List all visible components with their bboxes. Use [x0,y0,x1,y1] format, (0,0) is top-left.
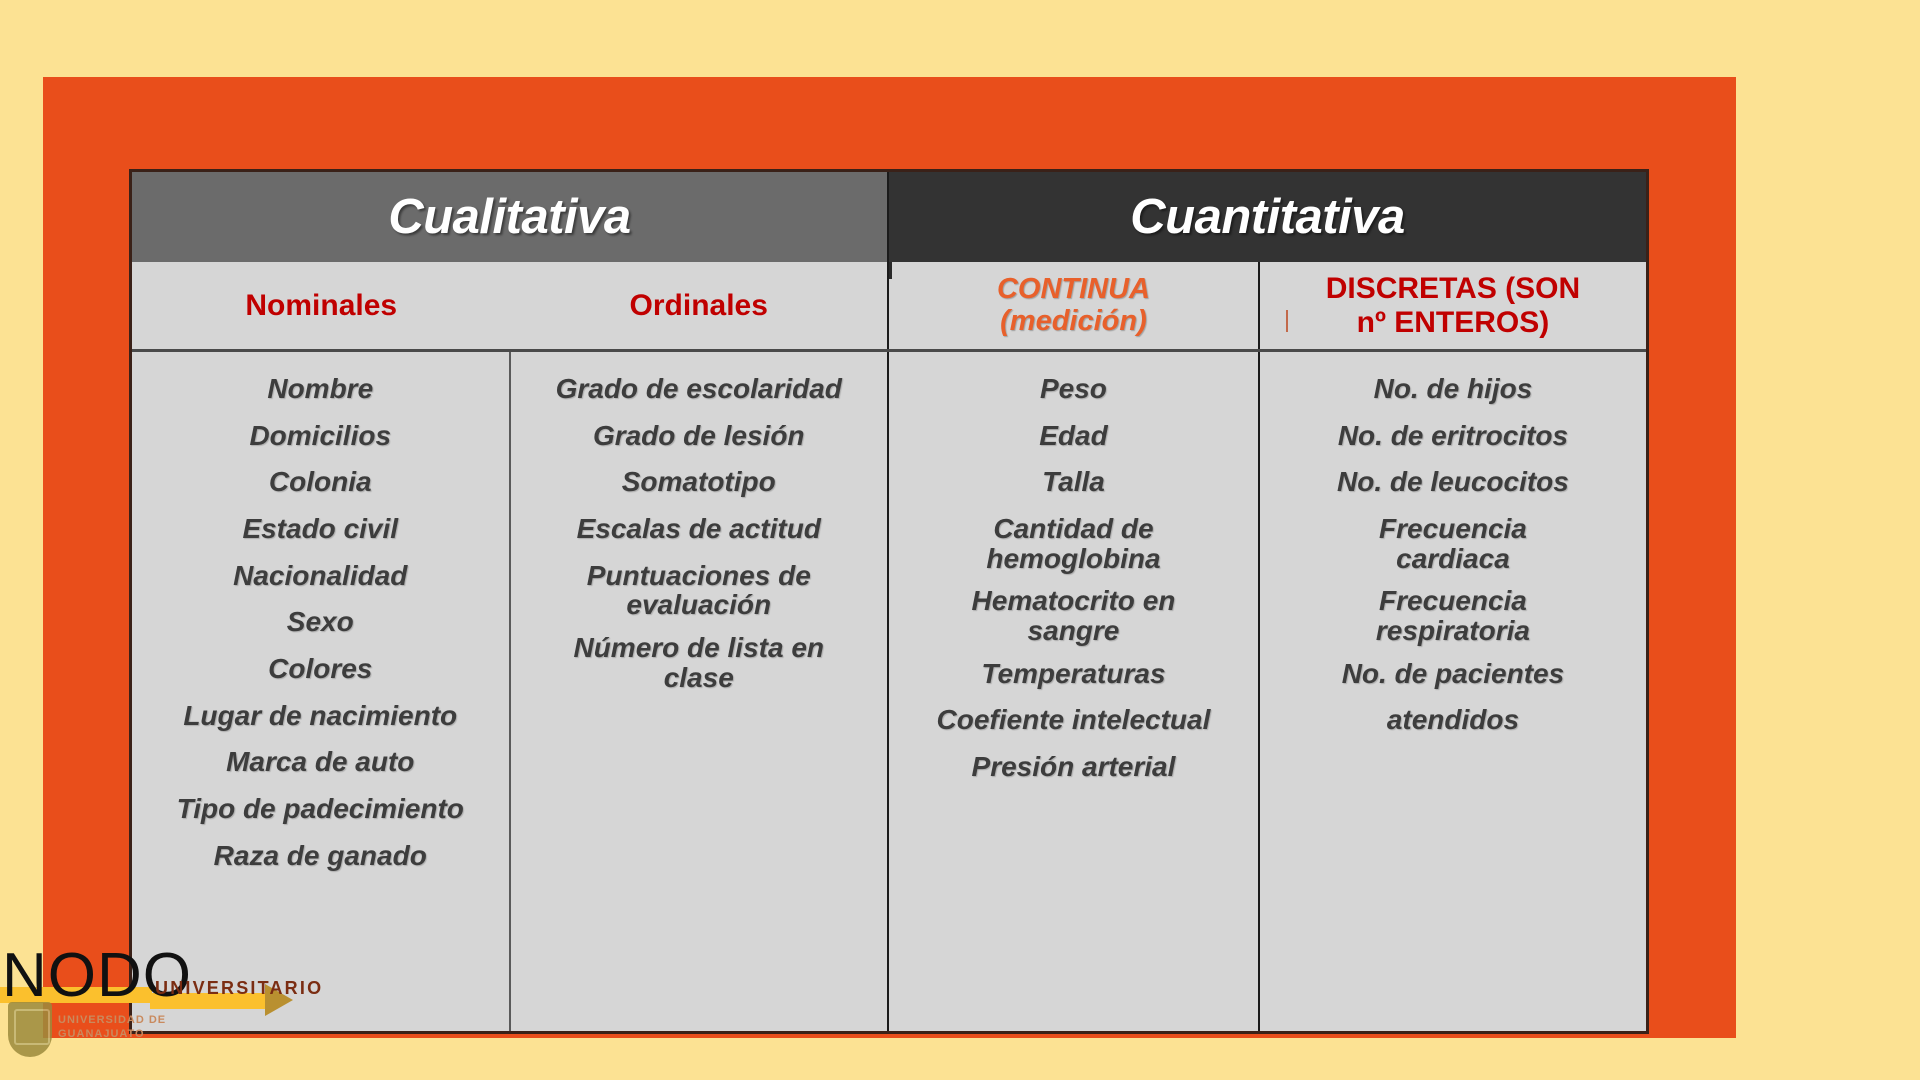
header-label-cuantitativa: Cuantitativa [1130,189,1404,245]
column-discretas: No. de hijosNo. de eritrocitosNo. de leu… [1260,352,1646,1031]
nodo-universitario-logo: NODO UNIVERSITARIO UNIVERSIDAD DE GUANAJ… [0,940,360,1070]
list-item: Cantidad de hemoglobina [978,514,1168,573]
university-crest-icon [8,1002,52,1057]
logo-tagline: UNIVERSITARIO [155,978,323,999]
list-item: Frecuencia respiratoria [1368,586,1538,645]
list-item: No. de eritrocitos [1330,421,1576,451]
slide-canvas: Cualitativa Cuantitativa Nominales Ordin… [43,77,1736,1038]
tick-mark-icon [1286,310,1288,332]
list-item: Marca de auto [218,747,422,777]
list-item: Talla [1034,467,1113,497]
list-item: Temperaturas [973,659,1173,689]
subheader-label-discretas: DISCRETAS (SON nº ENTEROS) [1326,272,1580,339]
list-item: Estado civil [234,514,406,544]
list-item: Frecuencia cardiaca [1371,514,1535,573]
table-header-row: Cualitativa Cuantitativa [132,172,1646,262]
list-item: No. de hijos [1366,374,1541,404]
subheader-cell-discretas: DISCRETAS (SON nº ENTEROS) [1260,262,1646,349]
list-item: Colores [260,654,380,684]
list-item: Grado de escolaridad [548,374,850,404]
subheader-label-ordinales: Ordinales [630,289,768,323]
subheader-label-nominales: Nominales [245,289,397,323]
column-continua: PesoEdadTallaCantidad de hemoglobinaHema… [889,352,1260,1031]
list-item: Coefiente intelectual [929,705,1219,735]
list-item: Nombre [259,374,381,404]
column-ordinales: Grado de escolaridadGrado de lesiónSomat… [511,352,890,1031]
list-item: Peso [1032,374,1115,404]
column-nominales: NombreDomiciliosColoniaEstado civilNacio… [132,352,511,1031]
subheader-label-continua: CONTINUA (medición) [997,274,1150,337]
list-item: Tipo de padecimiento [169,794,472,824]
list-item: Sexo [279,607,362,637]
list-item: No. de leucocitos [1329,467,1577,497]
subheader-cell-ordinales: Ordinales [511,262,890,349]
list-item: Domicilios [241,421,399,451]
table-subheader-row: Nominales Ordinales CONTINUA (medición) … [132,262,1646,352]
subheader-cell-continua: CONTINUA (medición) [889,262,1260,349]
list-item: Escalas de actitud [569,514,829,544]
logo-crest-label: UNIVERSIDAD DE GUANAJUATO [58,1014,166,1042]
list-item: Colonia [261,467,380,497]
list-item: No. de pacientes [1334,659,1573,689]
header-label-cualitativa: Cualitativa [388,189,630,245]
list-item: Edad [1031,421,1115,451]
subheader-cell-nominales: Nominales [132,262,511,349]
list-item: Raza de ganado [206,841,435,871]
list-item: Presión arterial [964,752,1184,782]
list-item: Nacionalidad [225,561,415,591]
logo-wordmark: NODO [2,940,192,1011]
list-item: Número de lista en clase [565,633,832,692]
list-item: atendidos [1379,705,1527,735]
list-item: Puntuaciones de evaluación [579,561,819,620]
header-cell-cualitativa: Cualitativa [132,172,889,262]
table-body-row: NombreDomiciliosColoniaEstado civilNacio… [132,352,1646,1031]
list-item: Somatotipo [614,467,784,497]
header-cell-cuantitativa: Cuantitativa [889,172,1646,262]
variable-types-table: Cualitativa Cuantitativa Nominales Ordin… [129,169,1649,1034]
list-item: Grado de lesión [585,421,813,451]
list-item: Hematocrito en sangre [964,586,1184,645]
list-item: Lugar de nacimiento [175,701,465,731]
